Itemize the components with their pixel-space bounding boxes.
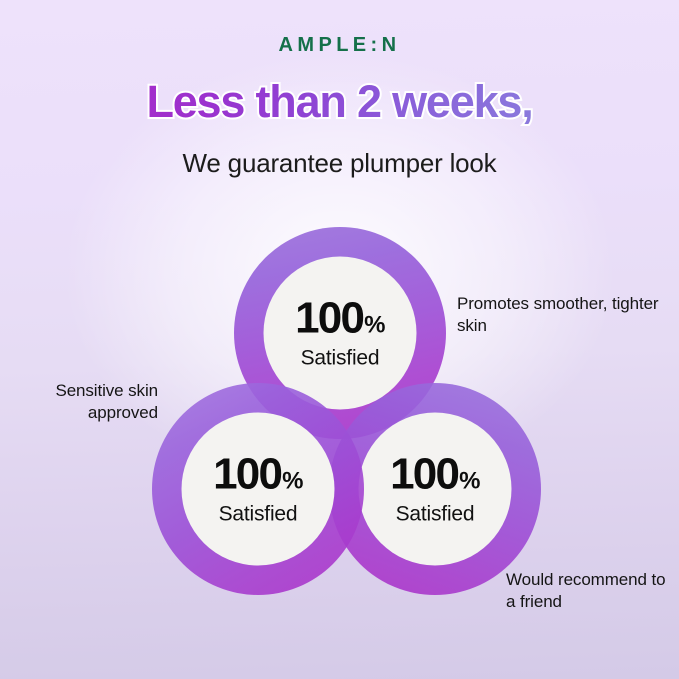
stat-value: 100 %: [295, 296, 385, 340]
stat-number: 100: [295, 296, 363, 340]
stat-number: 100: [213, 452, 281, 496]
stat-caption: Satisfied: [301, 346, 380, 370]
stat-caption: Satisfied: [219, 502, 298, 526]
stat-value: 100 %: [213, 452, 303, 496]
annotation-recommend: Would recommend to a friend: [506, 569, 676, 614]
stat-value: 100 %: [390, 452, 480, 496]
page-title: Less than 2 weeks, Less than 2 weeks,: [0, 78, 679, 125]
stat-number: 100: [390, 452, 458, 496]
headline-text: Less than 2 weeks,: [146, 76, 532, 127]
stat-badge-bottom-right-inner: 100 % Satisfied: [359, 413, 512, 566]
stat-caption: Satisfied: [396, 502, 475, 526]
stat-badge-bottom-left-inner: 100 % Satisfied: [182, 413, 335, 566]
percent-symbol: %: [459, 469, 480, 493]
percent-symbol: %: [282, 469, 303, 493]
promo-graphic: AMPLE:N Less than 2 weeks, Less than 2 w…: [0, 0, 679, 679]
stat-badge-bottom-left: 100 % Satisfied: [152, 383, 364, 595]
annotation-promotes: Promotes smoother, tighter skin: [457, 293, 662, 338]
percent-symbol: %: [364, 313, 385, 337]
annotation-sensitive-skin: Sensitive skin approved: [8, 380, 158, 425]
